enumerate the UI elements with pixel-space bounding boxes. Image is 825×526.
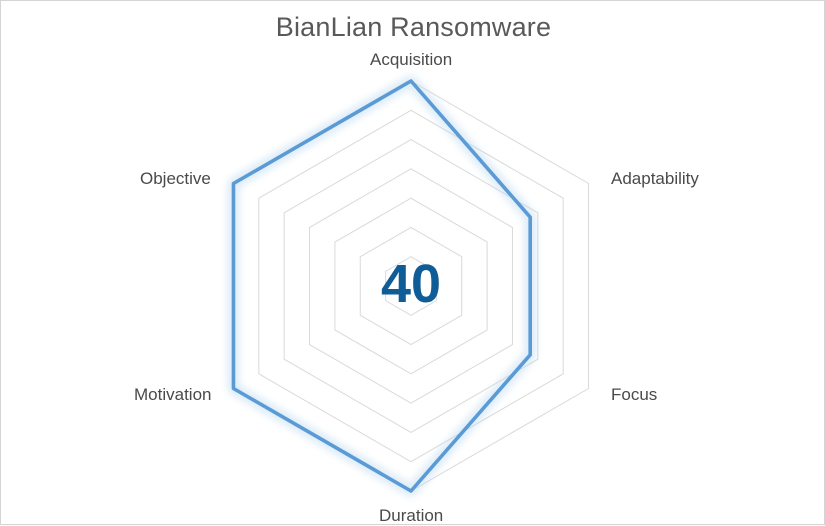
axis-label-motivation: Motivation — [134, 386, 211, 403]
axis-label-focus: Focus — [611, 386, 657, 403]
radar-chart-panel: BianLian Ransomware Acquisition Adaptabi… — [0, 0, 825, 525]
center-value-badge: 40 — [381, 257, 441, 311]
axis-label-objective: Objective — [140, 170, 211, 187]
axis-label-duration: Duration — [379, 507, 443, 524]
axis-label-adaptability: Adaptability — [611, 170, 699, 187]
axis-label-acquisition: Acquisition — [370, 51, 452, 68]
